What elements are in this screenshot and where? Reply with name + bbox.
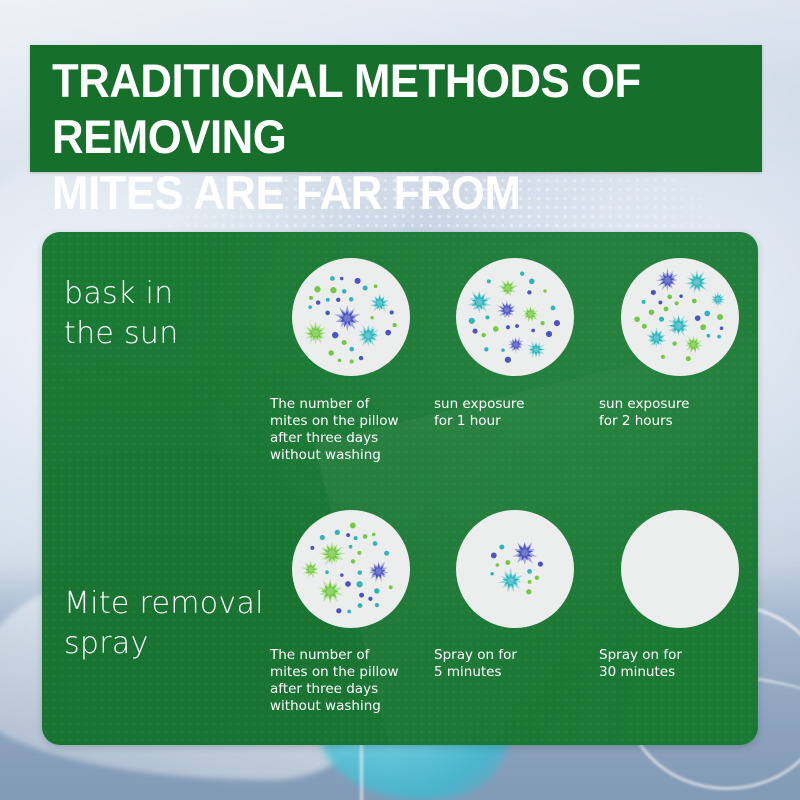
petri-dish: [456, 510, 574, 628]
cell-caption: Spray on for 30 minutes: [599, 647, 758, 681]
comparison-panel: bask in the sun The number of mites on t…: [42, 232, 758, 745]
germ-cluster: [621, 510, 739, 628]
row-mite-removal-spray: Mite removal spray The number of mites o…: [42, 489, 758, 745]
petri-dish: [292, 258, 410, 376]
cell-sun-baseline: The number of mites on the pillow after …: [268, 232, 433, 488]
cell-caption: The number of mites on the pillow after …: [270, 396, 433, 464]
cell-sun-1-hour: sun exposure for 1 hour: [432, 232, 597, 488]
row-label-mite-removal-spray: Mite removal spray: [64, 584, 279, 664]
row-cells-mite-removal-spray: The number of mites on the pillow after …: [268, 489, 758, 745]
petri-dish: [621, 510, 739, 628]
petri-dish: [292, 510, 410, 628]
row-bask-in-the-sun: bask in the sun The number of mites on t…: [42, 232, 758, 488]
title-banner: TRADITIONAL METHODS OF REMOVING MITES AR…: [30, 45, 762, 172]
cell-caption: sun exposure for 2 hours: [599, 396, 758, 430]
cell-spray-5-minutes: Spray on for 5 minutes: [432, 489, 597, 745]
cell-caption: Spray on for 5 minutes: [434, 647, 597, 681]
cell-spray-baseline: The number of mites on the pillow after …: [268, 489, 433, 745]
petri-dish: [456, 258, 574, 376]
cell-caption: sun exposure for 1 hour: [434, 396, 597, 430]
germ-cluster: [456, 258, 574, 376]
infographic-stage: TRADITIONAL METHODS OF REMOVING MITES AR…: [0, 0, 800, 800]
cell-spray-30-minutes: Spray on for 30 minutes: [597, 489, 758, 745]
row-label-bask-in-the-sun: bask in the sun: [64, 274, 279, 354]
row-cells-bask-in-the-sun: The number of mites on the pillow after …: [268, 232, 758, 488]
cell-caption: The number of mites on the pillow after …: [270, 647, 433, 715]
germ-cluster: [292, 258, 410, 376]
petri-dish: [621, 258, 739, 376]
germ-cluster: [621, 258, 739, 376]
germ-cluster: [456, 510, 574, 628]
germ-cluster: [292, 510, 410, 628]
cell-sun-2-hours: sun exposure for 2 hours: [597, 232, 758, 488]
